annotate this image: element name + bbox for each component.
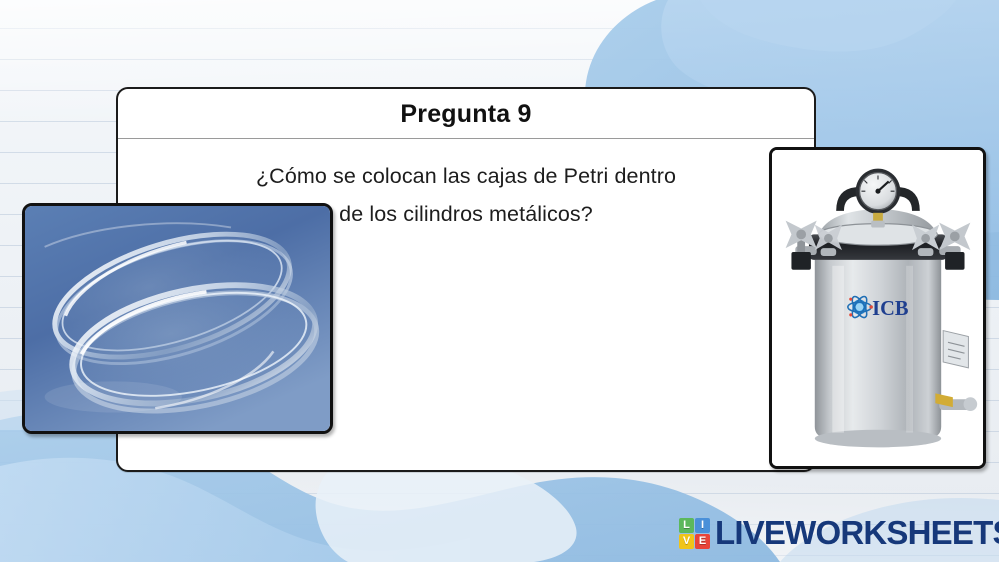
autoclave-artwork: ICB xyxy=(772,150,983,466)
logo-wordmark: LIVEWORKSHEETS xyxy=(715,514,999,552)
logo-tile-l: L xyxy=(679,518,694,533)
question-line-1: ¿Cómo se colocan las cajas de Petri dent… xyxy=(206,157,726,195)
logo-tile-i: I xyxy=(695,518,710,533)
petri-dish-artwork xyxy=(25,206,330,431)
liveworksheets-logo: L I V E LIVEWORKSHEETS xyxy=(679,514,999,552)
autoclave-image: ICB xyxy=(769,147,986,469)
worksheet-slide: Pregunta 9 ¿Cómo se colocan las cajas de… xyxy=(0,0,999,562)
logo-tile-v: V xyxy=(679,534,694,549)
petri-dish-image xyxy=(22,203,333,434)
logo-tiles: L I V E xyxy=(679,518,710,549)
svg-text:ICB: ICB xyxy=(872,298,909,320)
logo-tile-e: E xyxy=(695,534,710,549)
question-title: Pregunta 9 xyxy=(118,89,814,139)
